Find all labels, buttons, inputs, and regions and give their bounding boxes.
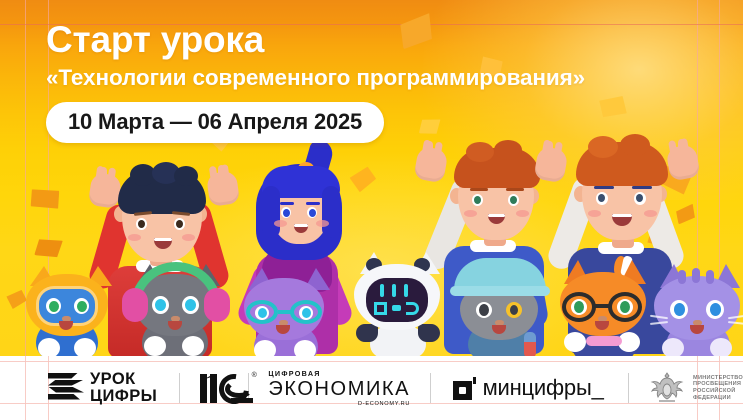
logo-urok-cifry-line2: ЦИФРЫ — [90, 389, 157, 404]
ministry-line-1: МИНИСТЕРСТВО — [693, 375, 743, 382]
logo-digital-economy[interactable]: ЦИФРОВАЯ ЭКОНОМИКА D-ECONOMY.RU — [268, 369, 410, 407]
ministry-line-3: РОССИЙСКОЙ — [693, 388, 743, 395]
date-range-text: 10 Марта — 06 Апреля 2025 — [68, 109, 362, 134]
registered-mark: ® — [252, 372, 257, 379]
logo-mincifry-text: минцифры_ — [483, 375, 604, 401]
page-title: Старт урока — [46, 18, 585, 62]
banner-artboard: Старт урока «Технологии современного про… — [0, 0, 743, 356]
logo-urok-cifry-text: УРОК ЦИФРЫ — [90, 372, 157, 404]
promo-banner: Старт урока «Технологии современного про… — [0, 0, 743, 420]
logo-1c[interactable]: ® — [200, 372, 226, 405]
logo-urok-cifry-line1: УРОК — [90, 372, 157, 387]
headline-block: Старт урока «Технологии современного про… — [46, 18, 585, 143]
date-range-badge: 10 Марта — 06 Апреля 2025 — [46, 102, 384, 143]
logo-ministry-text: МИНИСТЕРСТВО ПРОСВЕЩЕНИЯ РОССИЙСКОЙ ФЕДЕ… — [693, 375, 743, 401]
logo-urok-cifry[interactable]: УРОК ЦИФРЫ — [48, 372, 157, 405]
russian-coat-of-arms-icon — [648, 371, 686, 405]
chevron-zigzag-icon — [48, 372, 84, 405]
logo-digital-economy-main: ЭКОНОМИКА — [268, 378, 410, 401]
character-cat-purple-glasses — [236, 266, 336, 356]
ministry-line-2: ПРОСВЕЩЕНИЯ — [693, 381, 743, 388]
character-cat-robot-white — [344, 252, 450, 356]
page-subtitle: «Технологии современного программировани… — [46, 64, 585, 92]
logo-ministry-of-education[interactable]: МИНИСТЕРСТВО ПРОСВЕЩЕНИЯ РОССИЙСКОЙ ФЕДЕ… — [648, 371, 743, 405]
logo-digital-economy-url: D-ECONOMY.RU — [358, 401, 410, 407]
logo-row: УРОК ЦИФРЫ ® ЦИФРОВАЯ ЭКОНОМИКА D-E — [0, 356, 743, 420]
character-cat-grey-headphones — [120, 258, 230, 356]
character-cat-hardhat — [446, 258, 552, 356]
character-cat-orange-helmet — [18, 264, 114, 356]
logo-digital-economy-top: ЦИФРОВАЯ — [268, 369, 320, 378]
character-cat-orange-glasses — [548, 258, 658, 356]
mincifry-square-icon — [453, 377, 476, 400]
character-cat-lilac — [648, 262, 743, 356]
1c-inner-ring — [225, 380, 253, 398]
ministry-line-4: ФЕДЕРАЦИИ — [693, 395, 743, 402]
logo-mincifry[interactable]: минцифры_ — [453, 375, 604, 401]
footer-logo-bar: УРОК ЦИФРЫ ® ЦИФРОВАЯ ЭКОНОМИКА D-E — [0, 356, 743, 420]
